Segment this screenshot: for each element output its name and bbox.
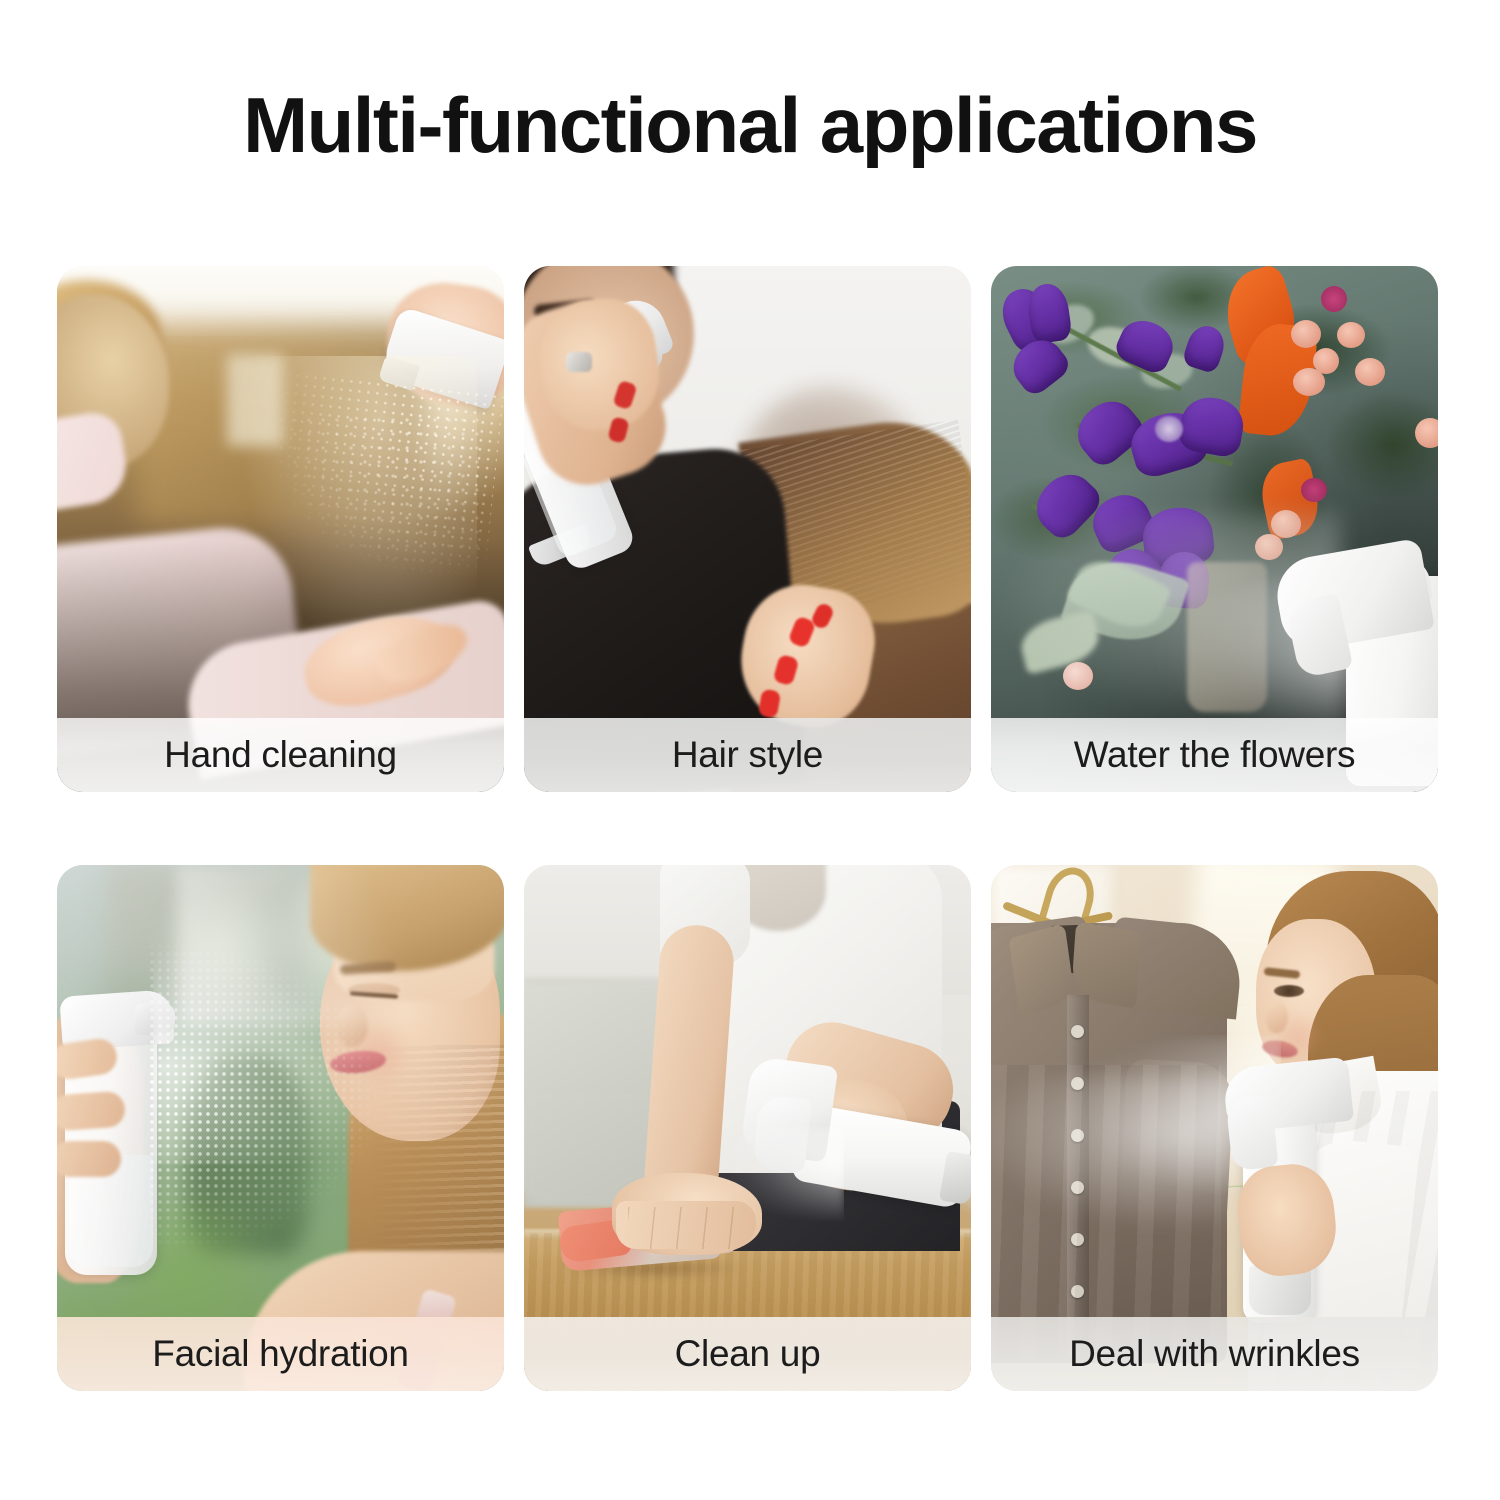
application-tile-hand-cleaning[interactable]: Hand cleaning [57, 266, 504, 792]
tile-caption: Facial hydration [57, 1317, 504, 1391]
tile-caption: Deal with wrinkles [991, 1317, 1438, 1391]
photo-hand-cleaning [57, 266, 504, 792]
page-title: Multi-functional applications [0, 86, 1500, 164]
photo-facial-hydration [57, 865, 504, 1391]
application-tile-facial-hydration[interactable]: Facial hydration [57, 865, 504, 1391]
applications-grid: Hand cleaning [57, 266, 1438, 1391]
application-tile-clean-up[interactable]: Clean up [524, 865, 971, 1391]
application-tile-water-the-flowers[interactable]: Water the flowers [991, 266, 1438, 792]
photo-deal-with-wrinkles [991, 865, 1438, 1391]
tile-caption: Water the flowers [991, 718, 1438, 792]
application-tile-deal-with-wrinkles[interactable]: Deal with wrinkles [991, 865, 1438, 1391]
application-tile-hair-style[interactable]: Hair style [524, 266, 971, 792]
tile-caption: Hair style [524, 718, 971, 792]
tile-caption: Hand cleaning [57, 718, 504, 792]
photo-hair-style [524, 266, 971, 792]
photo-water-the-flowers [991, 266, 1438, 792]
tile-caption: Clean up [524, 1317, 971, 1391]
photo-clean-up [524, 865, 971, 1391]
